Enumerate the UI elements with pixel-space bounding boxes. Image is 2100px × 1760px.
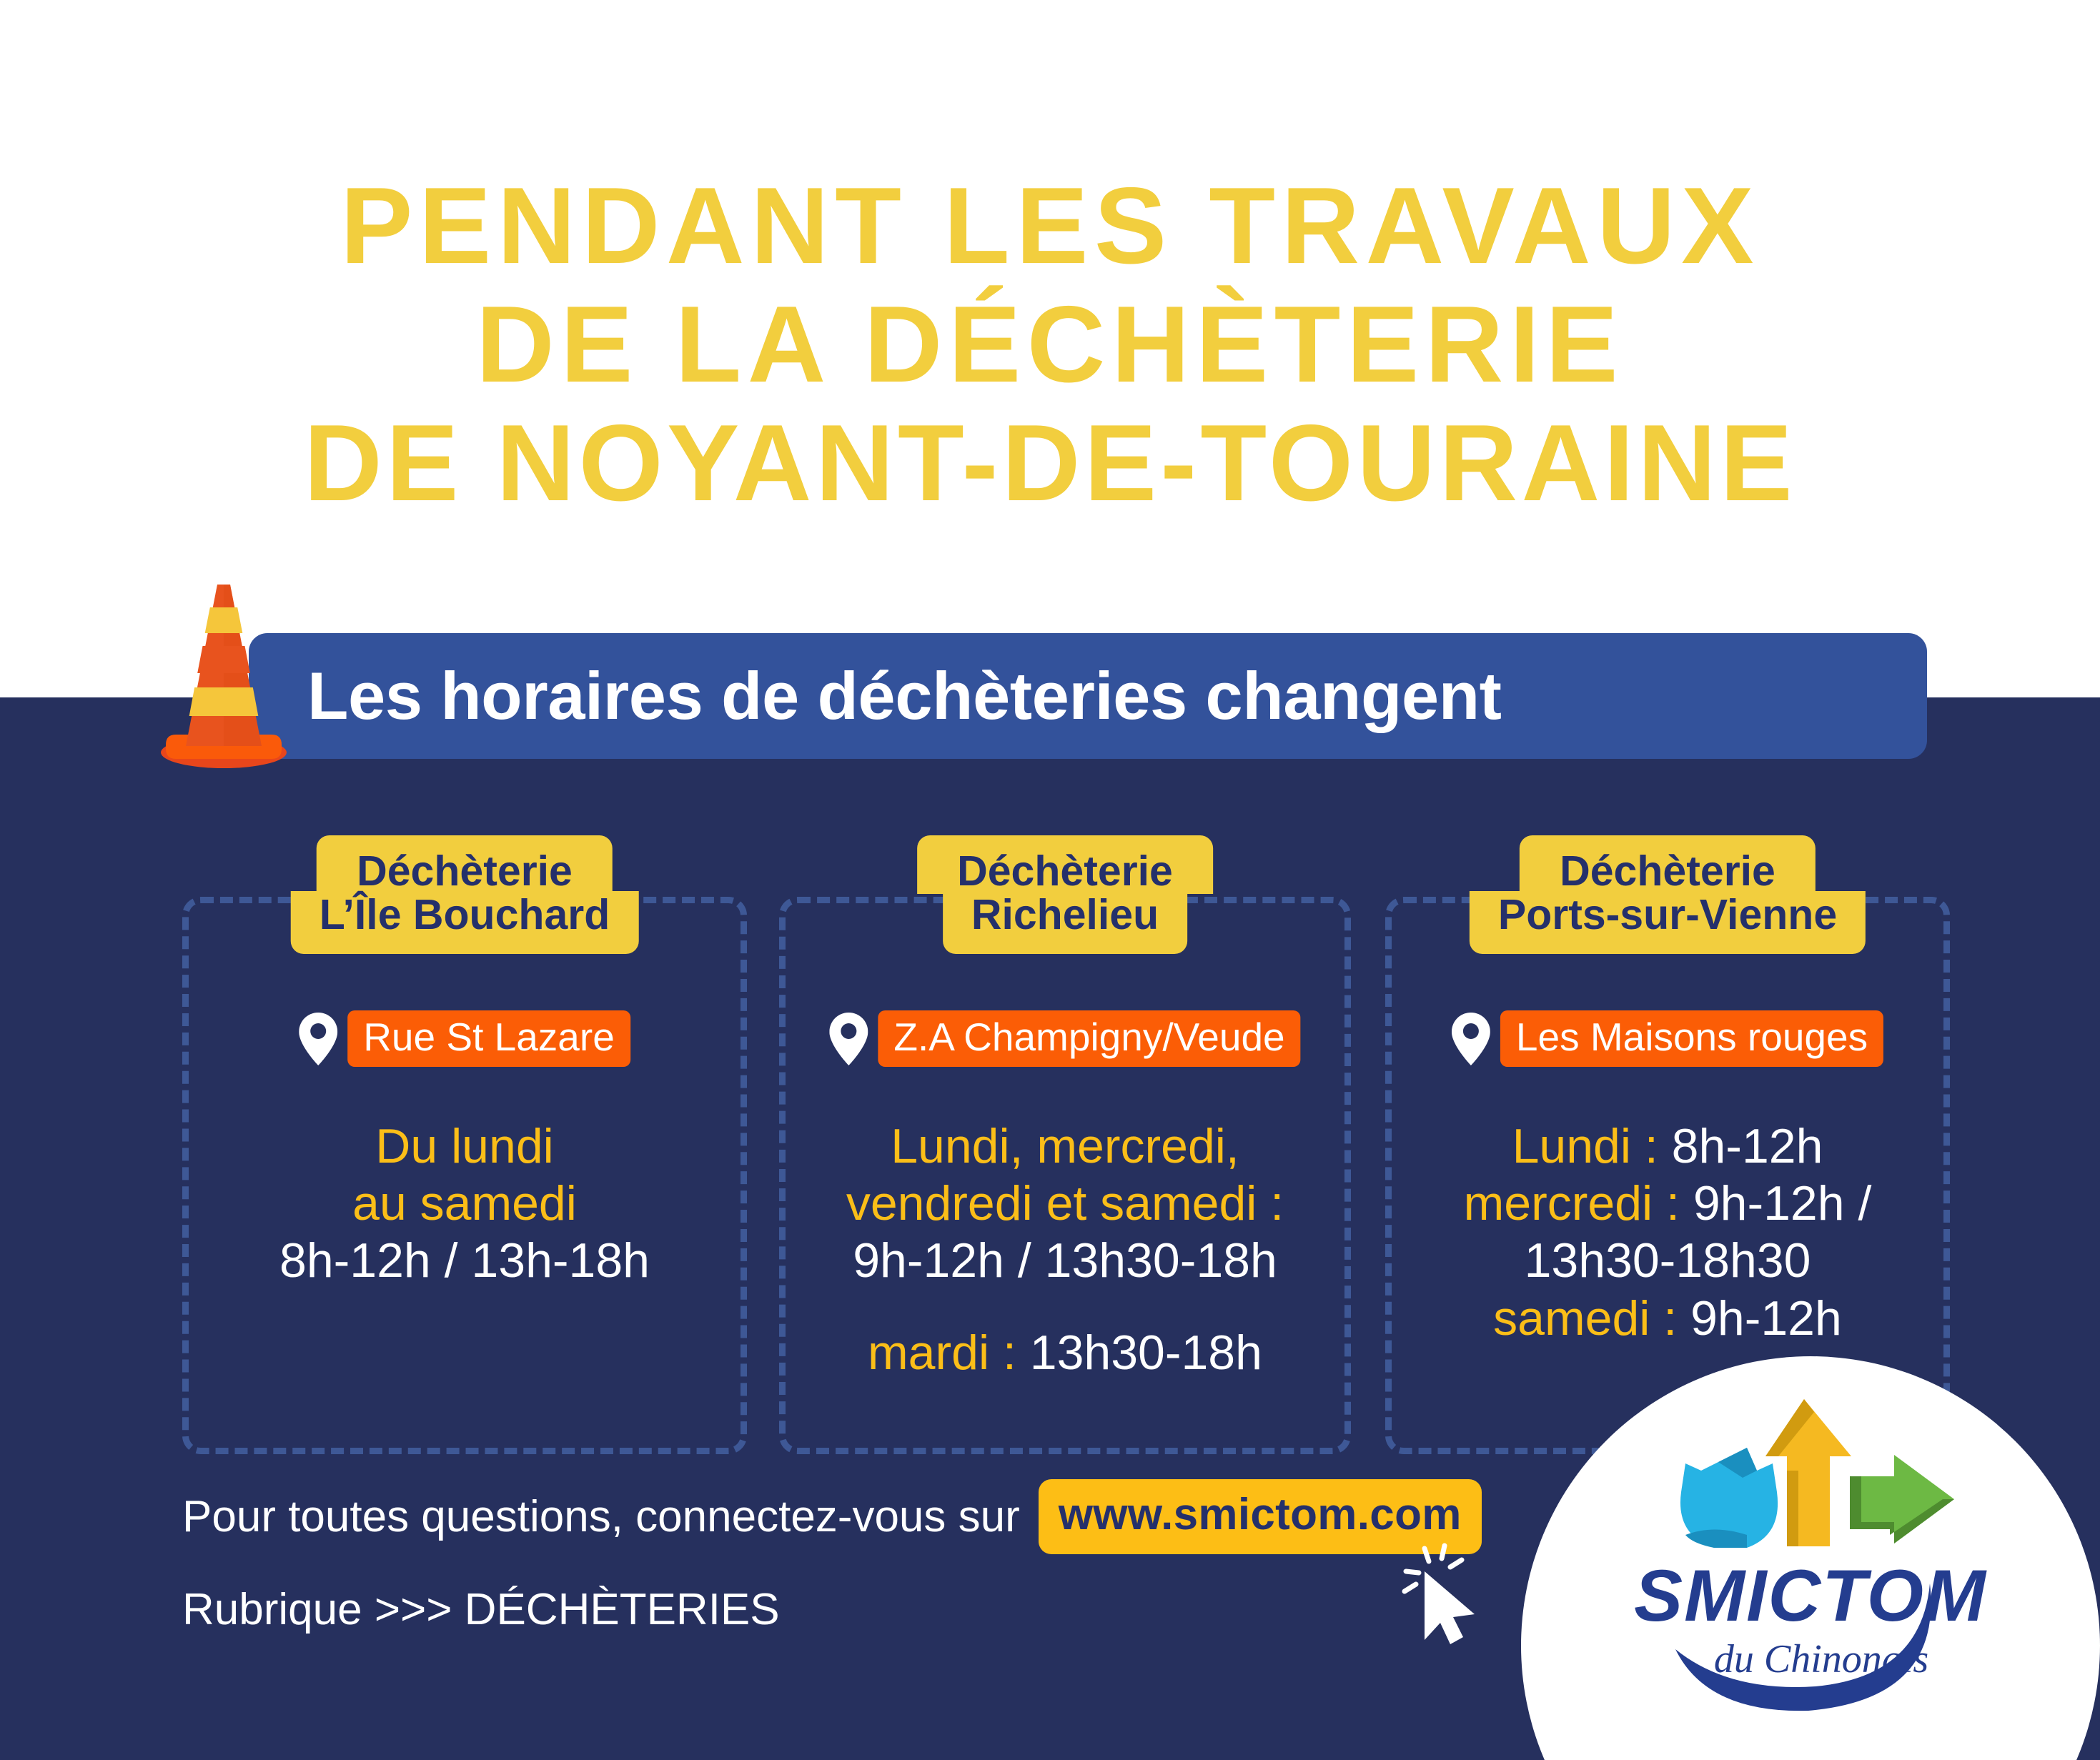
svg-text:SMICTOM: SMICTOM [1634, 1555, 1987, 1636]
card-2-hours-time-2: 9h-12h / 13h30-18h [853, 1233, 1277, 1288]
card-1-name-line1: Déchèterie [317, 835, 613, 894]
card-3-name-line1: Déchèterie [1520, 835, 1816, 894]
card-3-location-badge[interactable]: Les Maisons rouges [1500, 1010, 1883, 1067]
footer-line-1: Pour toutes questions, connectez-vous su… [182, 1479, 1540, 1554]
card-1-hours: Du lundi au samedi 8h-12h / 13h-18h [189, 1118, 741, 1290]
traffic-cone-icon [156, 579, 292, 772]
card-decheterie-2[interactable]: Déchèterie Richelieu Z.A Champigny/Veude… [779, 897, 1351, 1454]
banner-text: Les horaires de déchèteries changent [307, 657, 1502, 735]
mouse-cursor-click-icon [1397, 1540, 1483, 1647]
card-1-hours-day-0: Du lundi [375, 1119, 554, 1173]
footer-rubrique-text: Rubrique >>> DÉCHÈTERIES [182, 1584, 1540, 1635]
card-2-hours-day-1: vendredi et samedi : [846, 1176, 1284, 1230]
footer-question-text: Pour toutes questions, connectez-vous su… [182, 1491, 1020, 1542]
card-2-location-row: Z.A Champigny/Veude [829, 1010, 1300, 1067]
card-1-location-badge[interactable]: Rue St Lazare [347, 1010, 630, 1067]
card-3-name-line2: Ports-sur-Vienne [1470, 891, 1866, 954]
card-2-hours-day-3: mardi : [868, 1326, 1030, 1380]
card-3-nameplate: Déchèterie Ports-sur-Vienne [1470, 835, 1866, 954]
map-pin-icon [299, 1013, 337, 1065]
title-line-3: DE NOYANT-DE-TOURAINE [0, 409, 2100, 517]
map-pin-icon [1452, 1013, 1490, 1065]
card-3-hours-day-0: Lundi : [1512, 1119, 1672, 1173]
title-line-1: PENDANT LES TRAVAUX [0, 171, 2100, 280]
card-3-hours-day-1: mercredi : [1464, 1176, 1693, 1230]
card-3-location-row: Les Maisons rouges [1452, 1010, 1883, 1067]
card-2-hours-day-0: Lundi, mercredi, [891, 1119, 1239, 1173]
card-2-name-line2: Richelieu [943, 891, 1187, 954]
card-2-name-line1: Déchèterie [917, 835, 1213, 894]
card-3-hours-day-3: samedi : [1493, 1291, 1690, 1346]
card-1-nameplate: Déchèterie L’Île Bouchard [291, 835, 639, 954]
poster-root: PENDANT LES TRAVAUX DE LA DÉCHÈTERIE DE … [0, 0, 2100, 1760]
smictom-arrows-logo: SMICTOM du Chinonais [1607, 1392, 2014, 1721]
title-line-2: DE LA DÉCHÈTERIE [0, 290, 2100, 399]
card-decheterie-1[interactable]: Déchèterie L’Île Bouchard Rue St Lazare … [182, 897, 747, 1454]
page-title: PENDANT LES TRAVAUX DE LA DÉCHÈTERIE DE … [0, 171, 2100, 517]
card-3-hours-time-2: 13h30-18h30 [1525, 1233, 1811, 1288]
card-1-hours-day-1: au samedi [352, 1176, 577, 1230]
card-1-name-line2: L’Île Bouchard [291, 891, 639, 954]
footer: Pour toutes questions, connectez-vous su… [182, 1479, 1540, 1635]
card-3-hours-time-1: 9h-12h / [1693, 1176, 1872, 1230]
card-2-hours: Lundi, mercredi, vendredi et samedi : 9h… [786, 1118, 1344, 1381]
card-3-hours-time-3: 9h-12h [1690, 1291, 1842, 1346]
card-2-hours-time-3: 13h30-18h [1030, 1326, 1262, 1380]
map-pin-icon [829, 1013, 868, 1065]
banner: Les horaires de déchèteries changent [249, 633, 1927, 759]
card-1-location-row: Rue St Lazare [299, 1010, 630, 1067]
card-2-nameplate: Déchèterie Richelieu [917, 835, 1213, 954]
smictom-logo: SMICTOM du Chinonais [1521, 1356, 2100, 1760]
card-1-hours-time-2: 8h-12h / 13h-18h [279, 1233, 650, 1288]
card-2-location-badge[interactable]: Z.A Champigny/Veude [878, 1010, 1300, 1067]
card-3-hours-time-0: 8h-12h [1672, 1119, 1823, 1173]
card-3-hours: Lundi : 8h-12h mercredi : 9h-12h / 13h30… [1392, 1118, 1943, 1347]
